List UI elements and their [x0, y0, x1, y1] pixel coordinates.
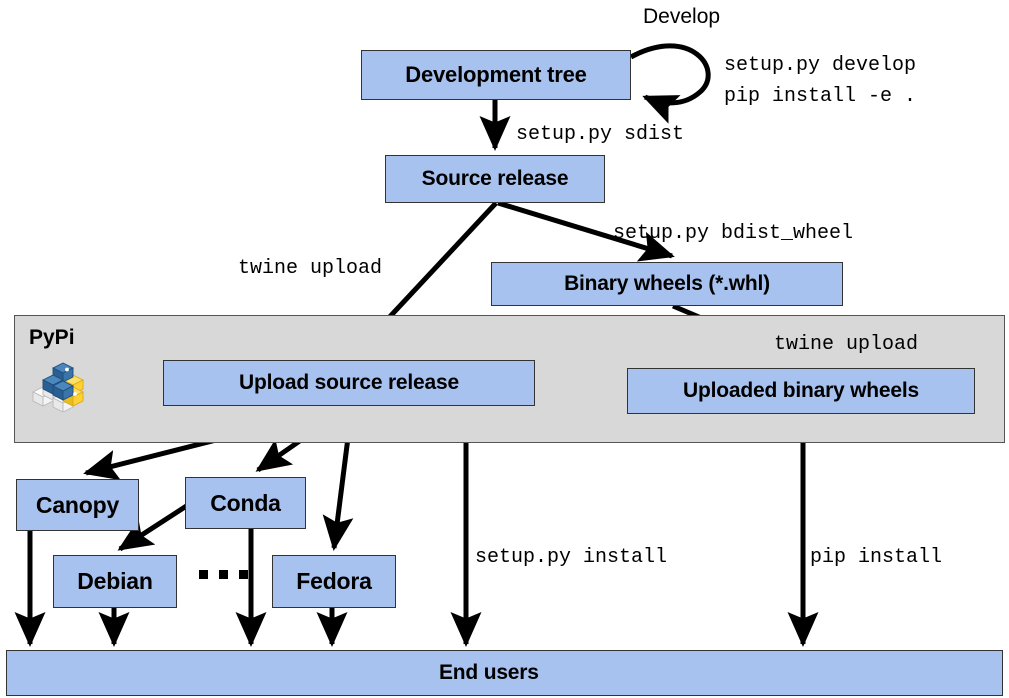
node-label: Conda	[210, 490, 281, 517]
node-canopy[interactable]: Canopy	[16, 479, 139, 531]
node-label: End users	[439, 661, 539, 685]
edge-label-pip-install-e: pip install -e .	[724, 84, 916, 110]
node-label: Uploaded binary wheels	[683, 379, 919, 403]
node-fedora[interactable]: Fedora	[272, 555, 396, 608]
diagram-canvas: PyPi	[0, 0, 1009, 698]
node-label: Fedora	[296, 568, 371, 595]
node-debian[interactable]: Debian	[53, 555, 177, 608]
ellipsis-dots	[199, 570, 248, 579]
ellipsis-dot	[199, 570, 208, 579]
edge-develop-loop	[631, 46, 708, 103]
node-uploaded-binary-wheels[interactable]: Uploaded binary wheels	[627, 368, 975, 414]
node-label: Debian	[77, 568, 152, 595]
node-label: Source release	[422, 167, 569, 191]
node-label: Upload source release	[239, 371, 459, 395]
edge-label-develop: Develop	[643, 4, 720, 31]
node-label: Canopy	[36, 492, 119, 519]
edge-label-pip-install: pip install	[810, 545, 942, 571]
edge-label-twine-upload-src: twine upload	[238, 256, 382, 282]
node-conda[interactable]: Conda	[185, 477, 306, 529]
edge-label-twine-upload-whl: twine upload	[774, 332, 918, 358]
pypi-logo-svg	[29, 356, 91, 412]
pypi-python-logo	[29, 356, 91, 417]
ellipsis-dot	[239, 570, 248, 579]
edge-label-setup-py-sdist: setup.py sdist	[516, 122, 684, 148]
pypi-group-label: PyPi	[29, 326, 75, 350]
ellipsis-dot	[219, 570, 228, 579]
node-development-tree[interactable]: Development tree	[361, 50, 631, 100]
node-source-release[interactable]: Source release	[385, 155, 605, 203]
edge-label-setup-py-install: setup.py install	[475, 545, 667, 571]
edge-label-setup-py-develop: setup.py develop	[724, 53, 916, 79]
node-upload-source-release[interactable]: Upload source release	[163, 360, 535, 406]
node-label: Binary wheels (*.whl)	[564, 272, 770, 296]
node-end-users[interactable]: End users	[6, 650, 1003, 696]
node-binary-wheels[interactable]: Binary wheels (*.whl)	[491, 262, 843, 306]
edge-label-setup-py-bdist: setup.py bdist_wheel	[613, 221, 853, 247]
node-label: Development tree	[405, 62, 586, 88]
